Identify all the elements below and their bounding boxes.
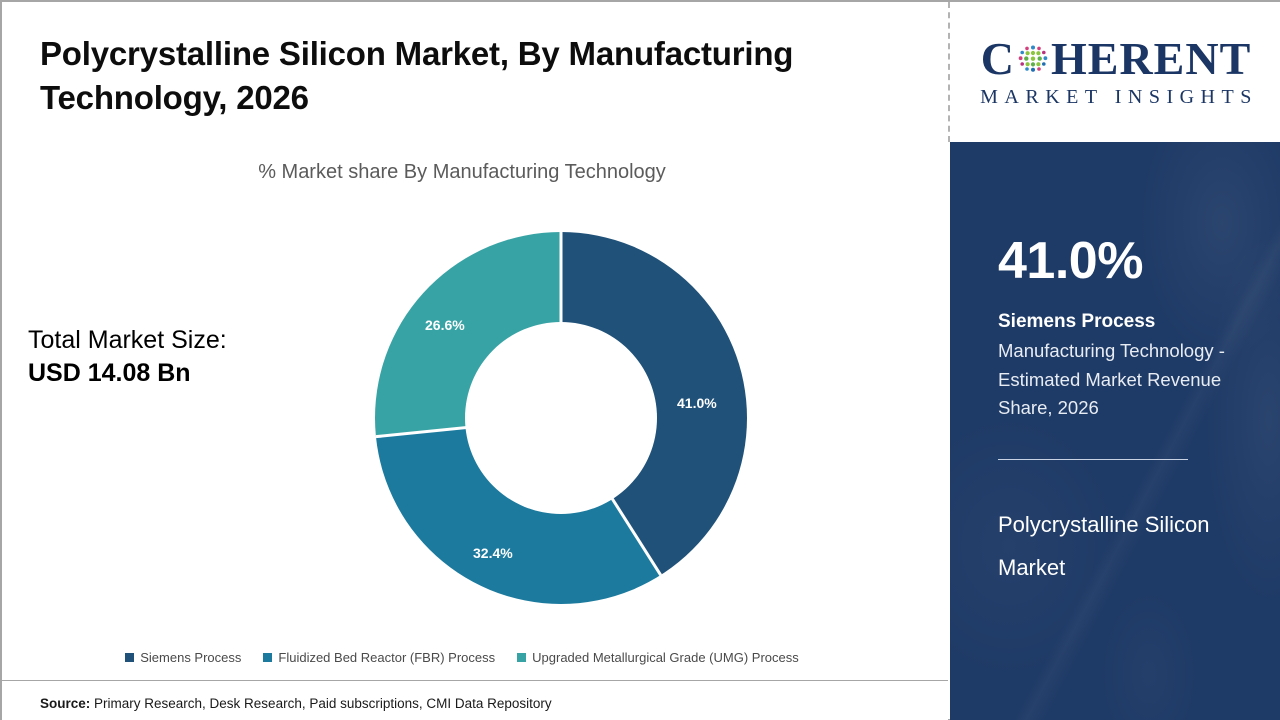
logo-tagline: MARKET INSIGHTS [974,86,1258,109]
highlight-segment-name: Siemens Process [998,310,1268,334]
globe-icon [1016,42,1050,76]
donut-chart: 41.0% 32.4% 26.6% [375,232,747,604]
legend-item-fbr[interactable]: Fluidized Bed Reactor (FBR) Process [263,650,495,665]
logo-wordmark: C [981,36,1252,82]
legend-item-umg[interactable]: Upgraded Metallurgical Grade (UMG) Proce… [517,650,799,665]
legend-item-siemens[interactable]: Siemens Process [125,650,241,665]
source-divider [2,680,948,681]
market-name: Polycrystalline Silicon Market [998,504,1268,590]
legend-swatch-icon [125,653,134,662]
chart-legend: Siemens Process Fluidized Bed Reactor (F… [2,650,922,665]
right-panel: C [950,2,1280,720]
logo-letters-herent: HERENT [1051,36,1251,82]
legend-label: Fluidized Bed Reactor (FBR) Process [278,650,495,665]
total-market-size-value: USD 14.08 Bn [28,357,328,390]
donut-hole [465,322,657,514]
highlight-percent: 41.0% [998,235,1143,287]
slice-label-siemens: 41.0% [677,395,717,411]
brand-logo[interactable]: C [950,2,1280,142]
left-panel: Polycrystalline Silicon Market, By Manuf… [2,2,948,720]
logo-letter-c: C [981,36,1015,82]
legend-swatch-icon [263,653,272,662]
legend-swatch-icon [517,653,526,662]
highlight-description: Manufacturing Technology - Estimated Mar… [998,337,1250,423]
legend-label: Siemens Process [140,650,241,665]
chart-subtitle: % Market share By Manufacturing Technolo… [2,161,922,184]
total-market-size-block: Total Market Size: USD 14.08 Bn [28,324,328,389]
legend-label: Upgraded Metallurgical Grade (UMG) Proce… [532,650,799,665]
highlight-divider [998,459,1188,460]
source-label: Source: [40,696,90,711]
source-text: Primary Research, Desk Research, Paid su… [90,696,551,711]
slice-label-fbr: 32.4% [473,545,513,561]
infographic-canvas: Polycrystalline Silicon Market, By Manuf… [0,0,1280,720]
slice-label-umg: 26.6% [425,317,465,333]
page-title: Polycrystalline Silicon Market, By Manuf… [40,32,910,119]
source-note: Source: Primary Research, Desk Research,… [40,696,552,711]
total-market-size-label: Total Market Size: [28,324,328,357]
highlight-panel: 41.0% Siemens Process Manufacturing Tech… [950,142,1280,720]
